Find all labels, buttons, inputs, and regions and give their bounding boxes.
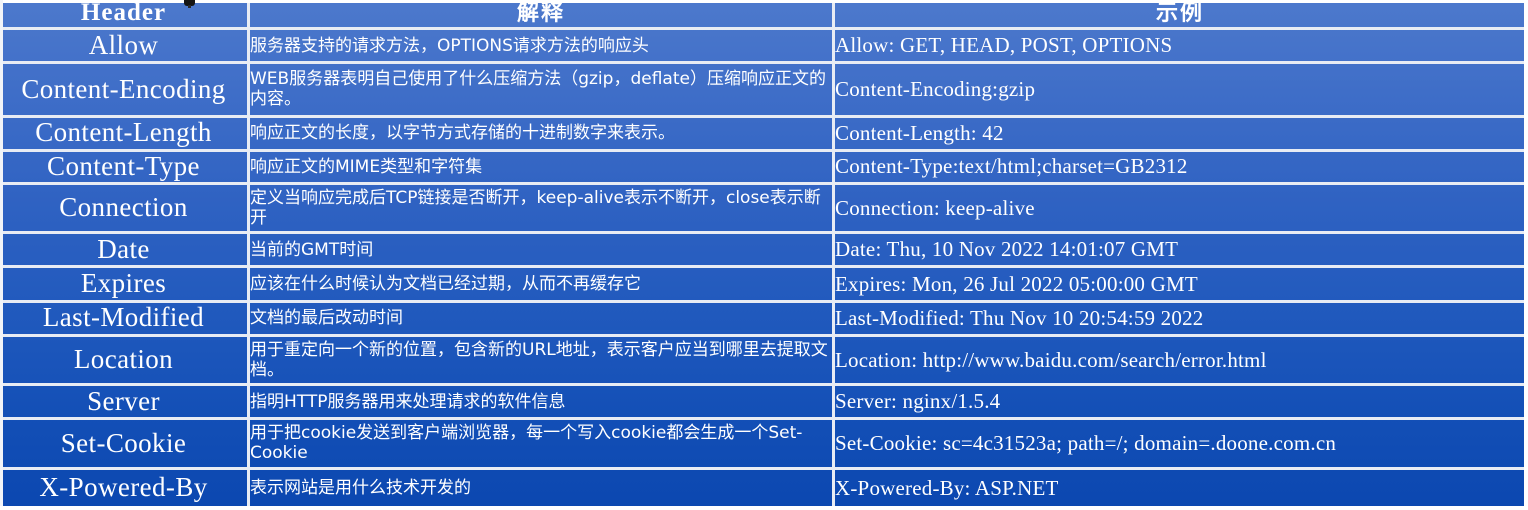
header-example-cell: Date: Thu, 10 Nov 2022 14:01:07 GMT <box>835 234 1528 268</box>
table-row: Content-Encoding WEB服务器表明自己使用了什么压缩方法（gzi… <box>0 64 1528 117</box>
header-name-cell: Date <box>0 234 250 268</box>
header-name-cell: Set-Cookie <box>0 420 250 469</box>
table-row: Location 用于重定向一个新的位置，包含新的URL地址，表示客户应当到哪里… <box>0 337 1528 386</box>
table-row: Last-Modified 文档的最后改动时间 Last-Modified: T… <box>0 303 1528 337</box>
table-row: Connection 定义当响应完成后TCP链接是否断开，keep-alive表… <box>0 185 1528 234</box>
header-name-cell: Expires <box>0 268 250 302</box>
table-row: Date 当前的GMT时间 Date: Thu, 10 Nov 2022 14:… <box>0 234 1528 268</box>
header-name-cell: Connection <box>0 185 250 234</box>
header-name-cell: Last-Modified <box>0 303 250 337</box>
header-example-cell: Allow: GET, HEAD, POST, OPTIONS <box>835 30 1528 64</box>
column-header-header: Header <box>0 0 250 30</box>
table-header-row: Header 解释 示例 <box>0 0 1528 30</box>
header-description-cell: 响应正文的长度，以字节方式存储的十进制数字来表示。 <box>250 118 835 152</box>
header-example-cell: Content-Length: 42 <box>835 118 1528 152</box>
header-name-cell: Server <box>0 386 250 420</box>
http-response-headers-table: Header 解释 示例 Allow 服务器支持的请求方法，OPTIONS请求方… <box>0 0 1528 510</box>
header-description-cell: 用于重定向一个新的位置，包含新的URL地址，表示客户应当到哪里去提取文档。 <box>250 337 835 386</box>
header-example-cell: Content-Encoding:gzip <box>835 64 1528 117</box>
header-example-cell: Set-Cookie: sc=4c31523a; path=/; domain=… <box>835 420 1528 469</box>
right-edge-strip <box>1524 0 1528 510</box>
top-edge-strip <box>0 0 1528 3</box>
header-description-cell: 文档的最后改动时间 <box>250 303 835 337</box>
column-header-example: 示例 <box>835 0 1528 30</box>
header-example-cell: Expires: Mon, 26 Jul 2022 05:00:00 GMT <box>835 268 1528 302</box>
column-header-explanation: 解释 <box>250 0 835 30</box>
header-example-cell: Content-Type:text/html;charset=GB2312 <box>835 152 1528 185</box>
header-description-cell: 用于把cookie发送到客户端浏览器，每一个写入cookie都会生成一个Set-… <box>250 420 835 469</box>
header-description-cell: 定义当响应完成后TCP链接是否断开，keep-alive表示不断开，close表… <box>250 185 835 234</box>
header-example-cell: Connection: keep-alive <box>835 185 1528 234</box>
header-name-cell: X-Powered-By <box>0 470 250 510</box>
header-example-cell: Location: http://www.baidu.com/search/er… <box>835 337 1528 386</box>
header-description-cell: 指明HTTP服务器用来处理请求的软件信息 <box>250 386 835 420</box>
header-name-cell: Content-Type <box>0 152 250 185</box>
table-header: Header 解释 示例 <box>0 0 1528 30</box>
table-row: X-Powered-By 表示网站是用什么技术开发的 X-Powered-By:… <box>0 470 1528 510</box>
cursor-artifact-tail-icon <box>188 5 191 8</box>
left-edge-strip <box>0 0 3 510</box>
header-description-cell: 响应正文的MIME类型和字符集 <box>250 152 835 185</box>
slide-canvas: Header 解释 示例 Allow 服务器支持的请求方法，OPTIONS请求方… <box>0 0 1528 510</box>
header-example-cell: Server: nginx/1.5.4 <box>835 386 1528 420</box>
header-description-cell: 服务器支持的请求方法，OPTIONS请求方法的响应头 <box>250 30 835 64</box>
header-name-cell: Content-Length <box>0 118 250 152</box>
bottom-edge-strip <box>0 506 1528 510</box>
header-name-cell: Content-Encoding <box>0 64 250 117</box>
table-row: Allow 服务器支持的请求方法，OPTIONS请求方法的响应头 Allow: … <box>0 30 1528 64</box>
header-description-cell: 表示网站是用什么技术开发的 <box>250 470 835 510</box>
table-row: Content-Type 响应正文的MIME类型和字符集 Content-Typ… <box>0 152 1528 185</box>
header-example-cell: X-Powered-By: ASP.NET <box>835 470 1528 510</box>
header-name-cell: Location <box>0 337 250 386</box>
header-name-cell: Allow <box>0 30 250 64</box>
table-row: Content-Length 响应正文的长度，以字节方式存储的十进制数字来表示。… <box>0 118 1528 152</box>
table-row: Server 指明HTTP服务器用来处理请求的软件信息 Server: ngin… <box>0 386 1528 420</box>
header-example-cell: Last-Modified: Thu Nov 10 20:54:59 2022 <box>835 303 1528 337</box>
header-description-cell: WEB服务器表明自己使用了什么压缩方法（gzip，deflate）压缩响应正文的… <box>250 64 835 117</box>
header-description-cell: 当前的GMT时间 <box>250 234 835 268</box>
table-row: Expires 应该在什么时候认为文档已经过期，从而不再缓存它 Expires:… <box>0 268 1528 302</box>
table-row: Set-Cookie 用于把cookie发送到客户端浏览器，每一个写入cooki… <box>0 420 1528 469</box>
header-description-cell: 应该在什么时候认为文档已经过期，从而不再缓存它 <box>250 268 835 302</box>
table-body: Allow 服务器支持的请求方法，OPTIONS请求方法的响应头 Allow: … <box>0 30 1528 510</box>
